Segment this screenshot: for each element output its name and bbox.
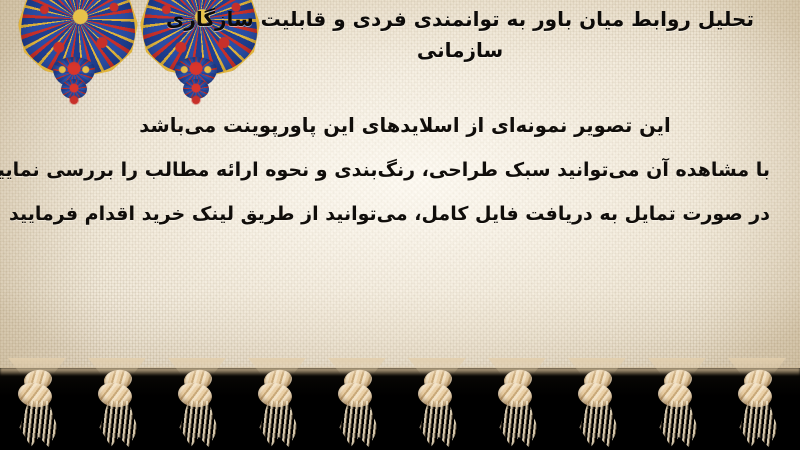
tassel-fringe-item — [488, 368, 546, 448]
tassel-fringe-item — [648, 368, 706, 448]
ornament-dot-left — [70, 96, 78, 104]
body-line-1: این تصویر نمونه‌ای از اسلایدهای این پاور… — [40, 104, 770, 148]
tassel-fringe-item — [168, 368, 226, 448]
body-line-3: در صورت تمایل به دریافت فایل کامل، می‌تو… — [40, 192, 770, 236]
body-line-2: با مشاهده آن می‌توانید سبک طراحی، رنگ‌بن… — [40, 148, 770, 192]
tassel-fringe-item — [568, 368, 626, 448]
tassel-fringe-item — [88, 368, 146, 448]
tassel-fringe-item — [248, 368, 306, 448]
tassel-fringe-item — [728, 368, 786, 448]
slide-body: این تصویر نمونه‌ای از اسلایدهای این پاور… — [40, 104, 770, 236]
carpet-bottom-band — [0, 368, 800, 450]
slide-title: تحلیل روابط میان باور به توانمندی فردی و… — [150, 4, 770, 66]
tassel-fringe-item — [8, 368, 66, 448]
ornament-dot-right — [192, 96, 200, 104]
slide-canvas: تحلیل روابط میان باور به توانمندی فردی و… — [0, 0, 800, 450]
tassel-fringe-item — [408, 368, 466, 448]
tassel-fringe-item — [328, 368, 386, 448]
